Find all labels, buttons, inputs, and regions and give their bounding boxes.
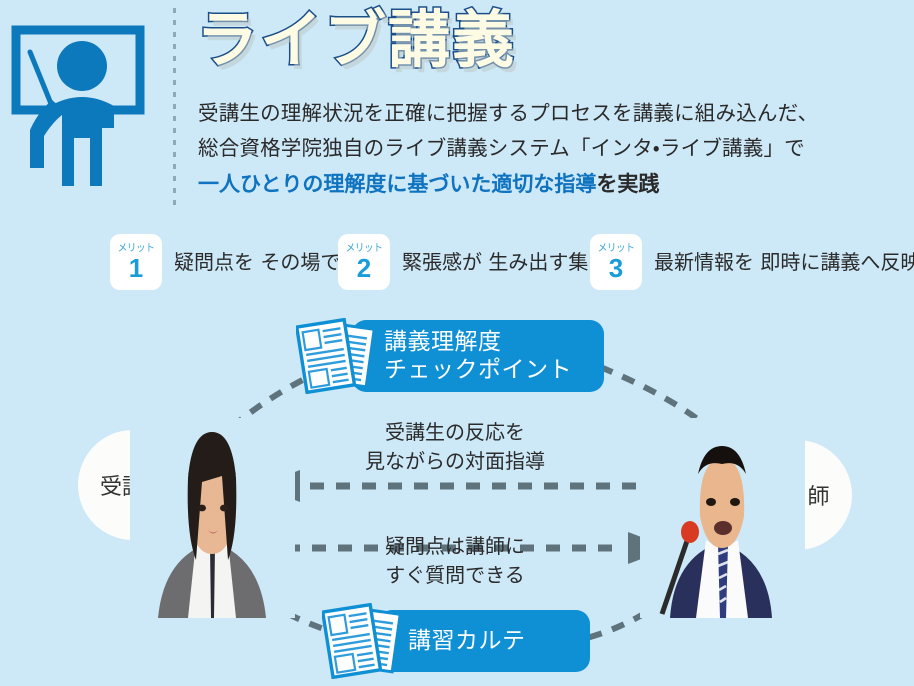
student-photo	[130, 418, 295, 618]
vertical-dotted-divider	[173, 8, 176, 208]
merit-badge-2: メリット 2	[338, 234, 390, 290]
box-lesson-record[interactable]: 講習カルテ	[378, 610, 590, 672]
teacher-blackboard-icon	[10, 24, 150, 194]
documents-icon	[322, 603, 408, 679]
merit-kicker: メリット	[346, 243, 383, 254]
lead-line-2: 総合資格学院独自のライブ講義システム「インタ・ライブ講義」で	[198, 131, 898, 166]
lead-line-3: 一人ひとりの理解度に基づいた適切な指導を実践	[198, 167, 898, 203]
cycle-diagram: 講義理解度 チェックポイント	[0, 300, 914, 686]
note-questions: 疑問点は講師に すぐ質問できる	[290, 532, 620, 590]
lead-line-1: 受講生の理解状況を正確に把握するプロセスを講義に組み込んだ、	[198, 96, 898, 131]
box-karte-label: 講習カルテ	[408, 627, 526, 655]
merit-number: 1	[129, 255, 143, 281]
lead-highlight: 一人ひとりの理解度に基づいた適切な指導	[198, 173, 596, 196]
teacher-photo	[640, 418, 805, 618]
lead-paragraph: 受講生の理解状況を正確に把握するプロセスを講義に組み込んだ、 総合資格学院独自の…	[198, 96, 898, 203]
merit-badge-3: メリット 3	[590, 234, 642, 290]
merit-item-2: メリット 2 緊張感が 生み出す集中力	[338, 234, 628, 290]
merit-item-3: メリット 3 最新情報を 即時に講義へ反映	[590, 234, 914, 290]
note-teaching: 受講生の反応を 見ながらの対面指導	[290, 418, 620, 476]
lead-tail: を実践	[596, 173, 659, 196]
merit-badge-1: メリット 1	[110, 234, 162, 290]
merit-text-3: 最新情報を 即時に講義へ反映	[654, 249, 914, 275]
box-check-label: 講義理解度 チェックポイント	[384, 328, 572, 384]
merit-kicker: メリット	[118, 243, 155, 254]
merit-number: 2	[357, 255, 371, 281]
box-understanding-checkpoint[interactable]: 講義理解度 チェックポイント	[352, 320, 604, 392]
page-title: ライブ講義	[196, 6, 516, 74]
merit-kicker: メリット	[598, 243, 635, 254]
infographic-root: ライブ講義 受講生の理解状況を正確に把握するプロセスを講義に組み込んだ、 総合資…	[0, 0, 914, 686]
merit-list: メリット 1 疑問点を その場で解決 メリット 2 緊張感が 生み出す集中力 メ…	[110, 234, 910, 298]
merit-number: 3	[609, 255, 623, 281]
documents-icon	[296, 318, 382, 394]
